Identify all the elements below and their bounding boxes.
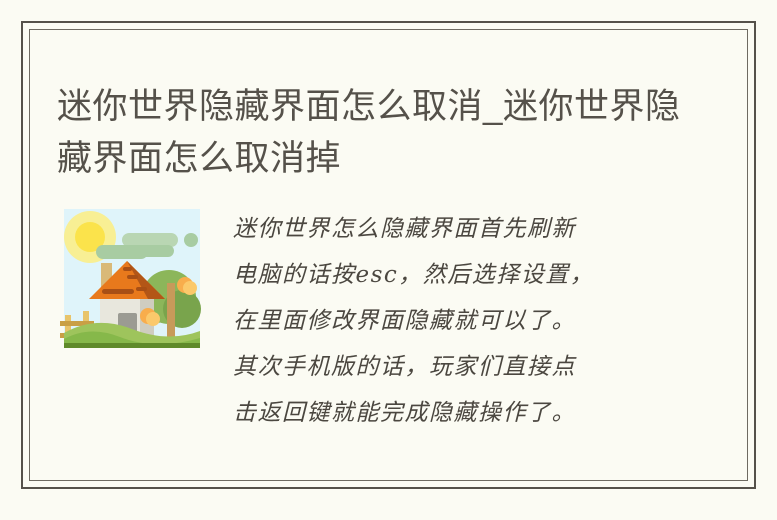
house-landscape-illustration: [56, 205, 208, 358]
body-line: 其次手机版的话，玩家们直接点: [233, 344, 645, 390]
body-line: 击返回键就能完成隐藏操作了。: [233, 390, 645, 436]
body-line: 迷你世界怎么隐藏界面首先刷新: [233, 206, 645, 252]
body-line: 电脑的话按esc，然后选择设置，: [233, 252, 645, 298]
body-line: 在里面修改界面隐藏就可以了。: [233, 298, 645, 344]
article-body: 迷你世界怎么隐藏界面首先刷新 电脑的话按esc，然后选择设置， 在里面修改界面隐…: [233, 206, 645, 436]
article-page: 迷你世界隐藏界面怎么取消_迷你世界隐藏界面怎么取消掉: [0, 0, 777, 520]
page-title: 迷你世界隐藏界面怎么取消_迷你世界隐藏界面怎么取消掉: [57, 81, 687, 185]
